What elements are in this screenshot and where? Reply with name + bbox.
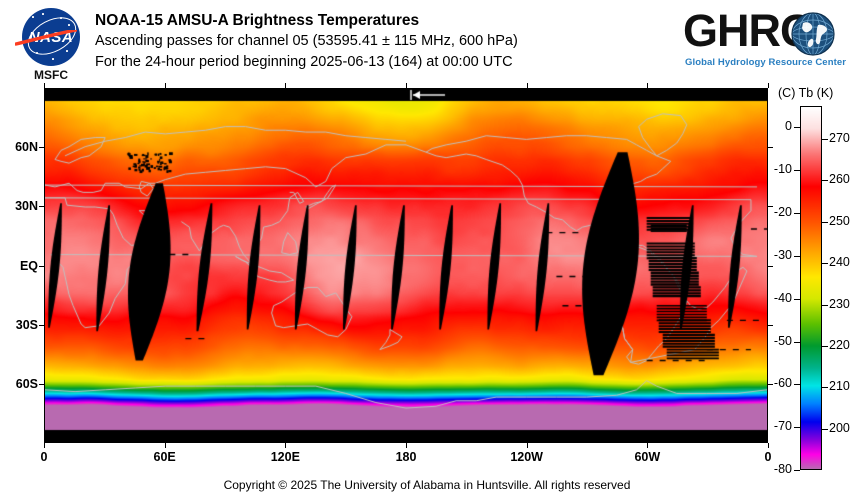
x-tick [768, 443, 769, 448]
title-block: NOAA-15 AMSU-A Brightness Temperatures A… [95, 10, 675, 73]
x-tick-top [406, 83, 407, 88]
colorbar-label-kelvin: 230 [829, 297, 854, 311]
colorbar-tick-kelvin [822, 387, 828, 388]
colorbar-tick-celsius [794, 384, 800, 385]
y-tick [39, 147, 44, 148]
colorbar-label-celsius: -60 [768, 376, 792, 390]
colorbar-tick-kelvin [822, 429, 828, 430]
colorbar-label-kelvin: 200 [829, 421, 854, 435]
y-tick [39, 384, 44, 385]
colorbar-label-kelvin: 260 [829, 172, 854, 186]
brightness-temperature-raster [45, 89, 767, 442]
x-tick [527, 443, 528, 448]
y-tick-right [768, 147, 773, 148]
colorbar-label-celsius: -10 [768, 162, 792, 176]
y-axis-label: EQ [2, 259, 38, 273]
page-title: NOAA-15 AMSU-A Brightness Temperatures [95, 10, 675, 31]
y-tick [39, 206, 44, 207]
colorbar-tick-kelvin [822, 346, 828, 347]
y-axis-label: 60S [2, 377, 38, 391]
y-axis-label: 30S [2, 318, 38, 332]
y-axis-label: 60N [2, 140, 38, 154]
colorbar-label-celsius: -40 [768, 291, 792, 305]
colorbar-tick-kelvin [822, 180, 828, 181]
colorbar-label-celsius: -70 [768, 419, 792, 433]
x-axis-label: 120E [260, 450, 310, 464]
colorbar-tick-kelvin [822, 222, 828, 223]
colorbar-tick-celsius [794, 213, 800, 214]
x-axis-label: 60E [140, 450, 190, 464]
y-tick-right [768, 325, 773, 326]
colorbar-tick-celsius [794, 170, 800, 171]
colorbar-tick-celsius [794, 299, 800, 300]
x-axis-label: 60W [622, 450, 672, 464]
globe-icon [791, 12, 835, 56]
ghrc-tagline: Global Hydrology Resource Center [685, 57, 846, 68]
x-tick-top [768, 83, 769, 88]
copyright-notice: Copyright © 2025 The University of Alaba… [0, 478, 854, 492]
x-axis-label: 180 [381, 450, 431, 464]
colorbar-label-celsius: 0 [768, 119, 792, 133]
colorbar-label-kelvin: 270 [829, 131, 854, 145]
colorbar-tick-kelvin [822, 139, 828, 140]
y-axis-label: 30N [2, 199, 38, 213]
colorbar-label-kelvin: 250 [829, 214, 854, 228]
ghrc-logo: GHRC Global Hydrology Resource Center [683, 8, 848, 76]
nasa-center-label: MSFC [14, 68, 88, 82]
colorbar-label-celsius: -50 [768, 334, 792, 348]
map-plot-area[interactable] [44, 88, 768, 443]
colorbar-label-celsius: -80 [768, 462, 792, 476]
colorbar-label-celsius: -20 [768, 205, 792, 219]
colorbar-tick-celsius [794, 427, 800, 428]
page-period: For the 24-hour period beginning 2025-06… [95, 52, 675, 73]
x-axis-label: 120W [502, 450, 552, 464]
page-subtitle: Ascending passes for channel 05 (53595.4… [95, 31, 675, 52]
colorbar-label-kelvin: 240 [829, 255, 854, 269]
x-tick [285, 443, 286, 448]
nasa-logo: NASA MSFC [14, 6, 88, 84]
colorbar-tick-celsius [794, 127, 800, 128]
colorbar-label-celsius: -30 [768, 248, 792, 262]
x-tick-top [44, 83, 45, 88]
colorbar-label-kelvin: 220 [829, 338, 854, 352]
y-tick [39, 266, 44, 267]
colorbar-tick-celsius [794, 256, 800, 257]
x-tick-top [165, 83, 166, 88]
colorbar-tick-kelvin [822, 305, 828, 306]
colorbar-gradient [800, 106, 822, 470]
colorbar-tick-celsius [794, 342, 800, 343]
colorbar-tick-kelvin [822, 263, 828, 264]
x-tick-top [285, 83, 286, 88]
x-axis-label: 0 [19, 450, 69, 464]
x-tick [647, 443, 648, 448]
x-tick [406, 443, 407, 448]
colorbar-label-kelvin: 210 [829, 379, 854, 393]
y-tick [39, 325, 44, 326]
colorbar-header: (C) Tb (K) [778, 86, 833, 100]
x-tick-top [527, 83, 528, 88]
x-tick [165, 443, 166, 448]
y-tick-right [768, 266, 773, 267]
x-tick [44, 443, 45, 448]
x-tick-top [647, 83, 648, 88]
nasa-swoosh-icon [15, 30, 77, 46]
colorbar-tick-celsius [794, 470, 800, 471]
